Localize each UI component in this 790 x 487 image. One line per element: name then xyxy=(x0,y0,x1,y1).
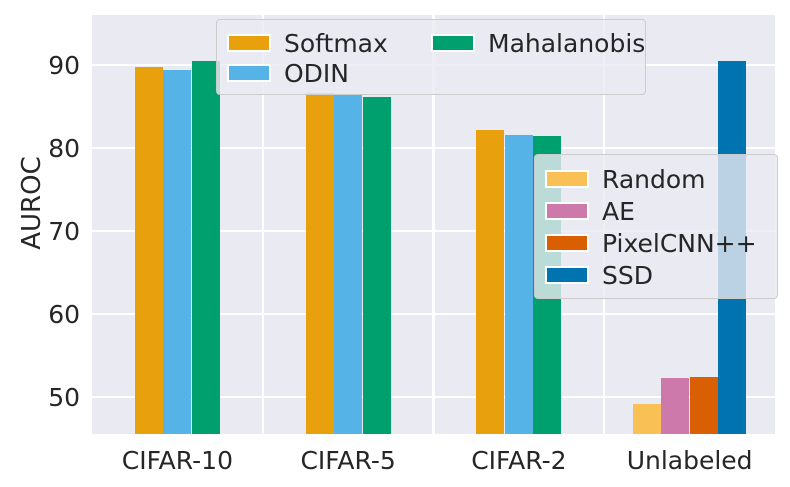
legend-unlabeled-entries: RandomAEPixelCNN++SSD xyxy=(535,155,777,299)
bar xyxy=(192,61,220,434)
legend-item: Mahalanobis xyxy=(431,28,635,58)
bar xyxy=(505,135,533,434)
legend-item-label: PixelCNN++ xyxy=(602,231,757,256)
bar xyxy=(633,404,661,434)
legend-item-label: ODIN xyxy=(284,61,349,86)
legend-item: SSD xyxy=(545,259,767,291)
bar xyxy=(363,97,391,434)
legend-methods: SoftmaxMahalanobisODIN xyxy=(216,19,646,95)
y-axis-tick-label: 50 xyxy=(10,385,80,410)
legend-item-label: SSD xyxy=(602,263,653,288)
bar xyxy=(476,130,504,434)
x-axis-tick-label: Unlabeled xyxy=(590,448,790,473)
legend-item-label: Random xyxy=(602,167,706,192)
y-axis-tick-label: 90 xyxy=(10,53,80,78)
legend-unlabeled-methods: RandomAEPixelCNN++SSD xyxy=(534,154,778,299)
legend-item: PixelCNN++ xyxy=(545,227,767,259)
legend-item: ODIN xyxy=(227,58,431,88)
legend-color-swatch xyxy=(227,64,271,82)
bar xyxy=(306,93,334,434)
legend-color-swatch xyxy=(227,34,271,52)
legend-item: Random xyxy=(545,163,767,195)
legend-item-label: Mahalanobis xyxy=(488,31,645,56)
bar xyxy=(334,95,362,434)
legend-item-label: Softmax xyxy=(284,31,388,56)
legend-color-swatch xyxy=(545,170,589,188)
legend-methods-entries: SoftmaxMahalanobisODIN xyxy=(217,20,645,96)
legend-item-label: AE xyxy=(602,199,635,224)
bar xyxy=(661,378,689,434)
legend-color-swatch xyxy=(545,234,589,252)
bar xyxy=(163,70,191,434)
legend-item: Softmax xyxy=(227,28,431,58)
y-axis-tick-label: 70 xyxy=(10,219,80,244)
y-axis-tick-label: 60 xyxy=(10,302,80,327)
legend-color-swatch xyxy=(431,34,475,52)
bar xyxy=(690,377,718,434)
y-axis-tick-label: 80 xyxy=(10,136,80,161)
bar-chart-figure: AUROC 5060708090 CIFAR-10CIFAR-5CIFAR-2U… xyxy=(0,0,790,487)
bar xyxy=(135,67,163,434)
legend-color-swatch xyxy=(545,202,589,220)
legend-color-swatch xyxy=(545,266,589,284)
legend-item: AE xyxy=(545,195,767,227)
